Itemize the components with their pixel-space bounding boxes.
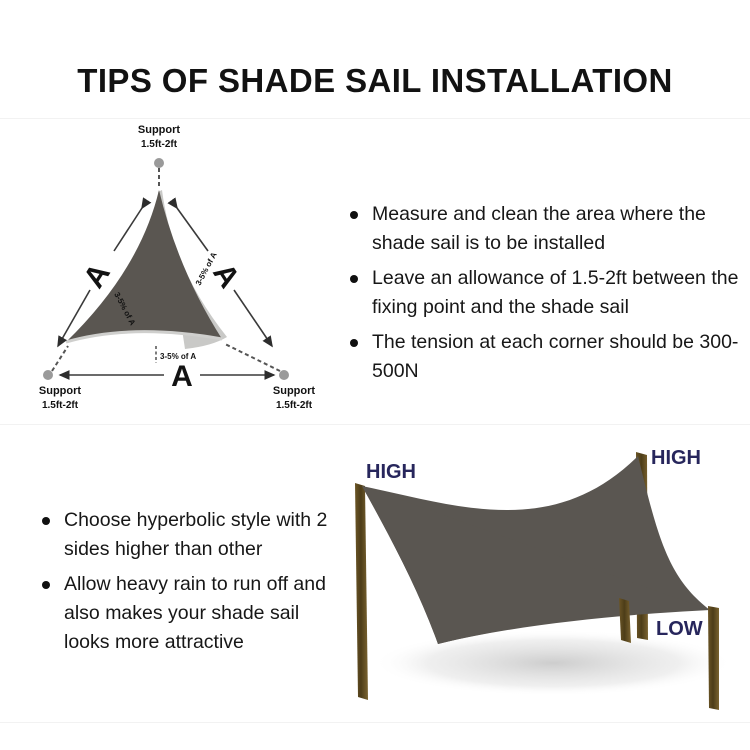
hyperbolic-sail-diagram: HIGH HIGH LOW bbox=[338, 428, 750, 720]
right-side-arrow-lower bbox=[234, 290, 272, 346]
tip-text: Choose hyperbolic style with 2 sides hig… bbox=[64, 509, 327, 560]
infographic-page: TIPS OF SHADE SAIL INSTALLATION Support … bbox=[0, 0, 750, 750]
list-item: Leave an allowance of 1.5-2ft between th… bbox=[350, 264, 740, 322]
bullet-icon bbox=[350, 211, 358, 219]
support-distance-top: 1.5ft-2ft bbox=[141, 139, 178, 150]
label-high-right: HIGH bbox=[651, 447, 701, 469]
bullet-icon bbox=[350, 339, 358, 347]
installation-tips-list: Measure and clean the area where the sha… bbox=[350, 200, 740, 392]
tip-text: Leave an allowance of 1.5-2ft between th… bbox=[372, 267, 738, 318]
bottom-sag-note: 3-5% of A bbox=[160, 352, 196, 361]
label-low-right: LOW bbox=[656, 618, 703, 640]
support-distance-bottom-left: 1.5ft-2ft bbox=[42, 400, 79, 411]
hyperbolic-style-tips-list: Choose hyperbolic style with 2 sides hig… bbox=[42, 506, 342, 663]
left-side-arrow-upper bbox=[114, 208, 142, 251]
bottom-span-length-A: A bbox=[171, 360, 193, 393]
bullet-icon bbox=[42, 517, 50, 525]
tip-text: The tension at each corner should be 300… bbox=[372, 331, 738, 382]
triangle-shade-sail-diagram: Support 1.5ft-2ft Support 1.5ft-2ft Supp… bbox=[22, 118, 352, 418]
label-high-left: HIGH bbox=[366, 461, 416, 483]
divider-bottom bbox=[0, 722, 750, 723]
post-low-right bbox=[708, 606, 719, 710]
bullet-icon bbox=[350, 275, 358, 283]
right-side-arrow-upper bbox=[177, 208, 208, 251]
support-label-top: Support bbox=[138, 124, 180, 136]
bottom-left-drop-line bbox=[52, 346, 68, 371]
page-title: TIPS OF SHADE SAIL INSTALLATION bbox=[0, 62, 750, 100]
list-item: Measure and clean the area where the sha… bbox=[350, 200, 740, 258]
anchor-point-bottom-left bbox=[43, 370, 53, 380]
list-item: Allow heavy rain to run off and also mak… bbox=[42, 570, 342, 657]
anchor-point-bottom-right bbox=[279, 370, 289, 380]
anchor-point-top bbox=[154, 158, 164, 168]
post-high-left bbox=[355, 483, 368, 700]
support-label-bottom-left: Support bbox=[39, 385, 81, 397]
support-label-bottom-right: Support bbox=[273, 385, 315, 397]
left-side-length-A: A bbox=[77, 258, 116, 294]
list-item: Choose hyperbolic style with 2 sides hig… bbox=[42, 506, 342, 564]
list-item: The tension at each corner should be 300… bbox=[350, 328, 740, 386]
divider-middle bbox=[0, 424, 750, 425]
tip-text: Allow heavy rain to run off and also mak… bbox=[64, 573, 326, 653]
bottom-right-drop-line bbox=[225, 344, 280, 371]
bullet-icon bbox=[42, 581, 50, 589]
tip-text: Measure and clean the area where the sha… bbox=[372, 203, 706, 254]
support-distance-bottom-right: 1.5ft-2ft bbox=[276, 400, 313, 411]
